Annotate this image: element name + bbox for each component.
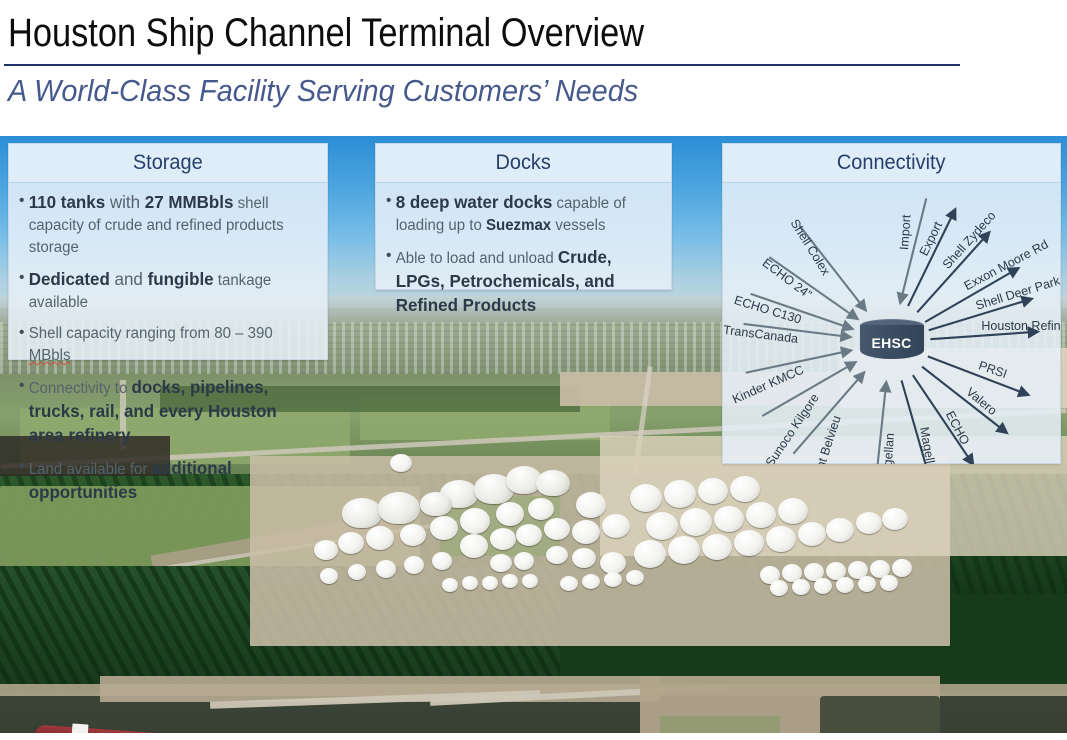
bullet-text-run: MBbls (29, 347, 71, 364)
bullet-text-run: Able to load and unload (396, 250, 558, 267)
panel-docks-body: 8 deep water docks capable of loading up… (376, 183, 671, 333)
connectivity-radial-diagram: EHSC Shell ColexECHO 24”ECHO C130TransCa… (723, 183, 1060, 464)
bullet-text-run: and (110, 269, 148, 289)
connection-label: Houston Refining (981, 319, 1060, 333)
bullet-item: Shell capacity ranging from 80 – 390 MBb… (19, 323, 308, 367)
bullet-item: Connectivity to docks, pipelines, trucks… (19, 376, 308, 448)
photo-bottom-margin (0, 733, 1067, 740)
title-divider (4, 64, 960, 66)
page-subtitle: A World-Class Facility Serving Customers… (8, 68, 938, 114)
panel-storage: Storage 110 tanks with 27 MMBbls shell c… (8, 143, 328, 360)
grass-patch (660, 716, 780, 733)
connection-label: Magellan (879, 433, 897, 464)
panel-connectivity-title: Connectivity (837, 151, 946, 175)
bullet-text-run: 27 MMBbls (145, 192, 234, 212)
panel-docks: Docks 8 deep water docks capable of load… (375, 143, 672, 290)
retention-pond (820, 696, 940, 733)
page-title: Houston Ship Channel Terminal Overview (8, 4, 868, 62)
connection-arrow-out (930, 332, 1038, 340)
panel-connectivity-header: Connectivity (723, 144, 1060, 183)
storage-bullet-list: 110 tanks with 27 MMBbls shell capacity … (19, 191, 317, 505)
bullet-text-run: 8 deep water docks (396, 192, 553, 212)
connection-label: Import (897, 214, 913, 250)
panel-docks-title: Docks (496, 151, 551, 175)
bullet-text-run: with (105, 192, 145, 212)
ehsc-hub-node: EHSC (860, 319, 924, 365)
bullet-text-run: 110 tanks (29, 192, 105, 212)
tank-row-right (760, 556, 960, 596)
panel-storage-title: Storage (133, 151, 203, 175)
panel-connectivity: Connectivity EHSC Shell ColexECHO 24”ECH… (722, 143, 1061, 464)
bullet-text-run: vessels (551, 217, 605, 234)
bullet-item: 8 deep water docks capable of loading up… (386, 191, 653, 237)
bullet-item: Dedicated and fungible tankage available (19, 268, 308, 314)
bullet-item: Land available for additional opportunit… (19, 457, 308, 505)
panel-docks-header: Docks (376, 144, 671, 183)
bullet-text-run: Shell capacity ranging from 80 – 390 (29, 325, 273, 342)
bullet-text-run: Dedicated (29, 269, 110, 289)
docks-bullet-list: 8 deep water docks capable of loading up… (386, 191, 661, 318)
title-block: Houston Ship Channel Terminal Overview A… (0, 0, 1067, 136)
bullet-item: Able to load and unload Crude, LPGs, Pet… (386, 246, 653, 318)
panel-storage-body: 110 tanks with 27 MMBbls shell capacity … (9, 183, 327, 520)
tank-farm (300, 436, 920, 636)
bullet-text-run: fungible (148, 269, 214, 289)
ehsc-hub-label: EHSC (860, 332, 924, 354)
bullet-text-run: Suezmax (486, 217, 551, 234)
panel-storage-header: Storage (9, 144, 327, 183)
ship-superstructure (72, 723, 89, 733)
bullet-text-run: Connectivity to (29, 380, 132, 397)
bullet-text-run: Land available for (29, 461, 152, 478)
bullet-item: 110 tanks with 27 MMBbls shell capacity … (19, 191, 308, 259)
